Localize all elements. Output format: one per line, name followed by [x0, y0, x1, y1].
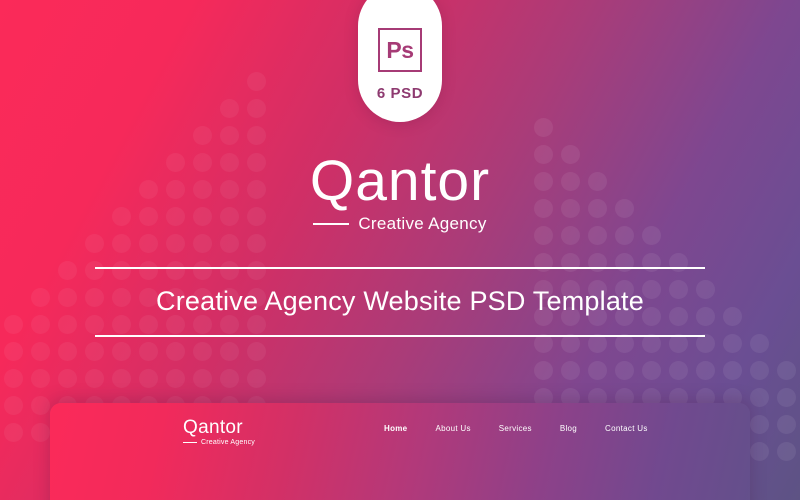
- nav-item-services[interactable]: Services: [485, 424, 546, 433]
- nav-item-home[interactable]: Home: [370, 424, 421, 433]
- ps-icon-label: Ps: [386, 39, 413, 62]
- subtitle-block: Creative Agency Website PSD Template: [95, 267, 705, 337]
- page-title: Creative Agency Website PSD Template: [95, 269, 705, 335]
- mockup-logo-wordmark: Qantor: [183, 418, 255, 438]
- logo-tagline: Creative Agency: [358, 214, 486, 234]
- photoshop-ps-icon: Ps: [378, 28, 422, 72]
- website-mockup: [50, 403, 750, 500]
- mockup-tagline-row: Creative Agency: [183, 439, 255, 446]
- nav-item-about-us[interactable]: About Us: [421, 424, 484, 433]
- logo-tagline-row: Creative Agency: [0, 214, 800, 234]
- poster-canvas: Ps 6 PSD Qantor Creative Agency Creative…: [0, 0, 800, 500]
- brand-logo: Qantor Creative Agency: [0, 152, 800, 234]
- nav-item-blog[interactable]: Blog: [546, 424, 591, 433]
- mockup-dash-icon: [183, 442, 197, 443]
- psd-count-label: 6 PSD: [377, 85, 423, 102]
- logo-wordmark: Qantor: [0, 152, 800, 210]
- mockup-navigation: HomeAbout UsServicesBlogContact Us: [370, 424, 662, 433]
- psd-badge: Ps 6 PSD: [358, 0, 442, 122]
- mockup-logo: Qantor Creative Agency: [183, 418, 255, 446]
- mockup-logo-tagline: Creative Agency: [201, 439, 255, 446]
- divider-bottom: [95, 335, 705, 337]
- logo-dash-icon: [313, 223, 349, 225]
- nav-item-contact-us[interactable]: Contact Us: [591, 424, 662, 433]
